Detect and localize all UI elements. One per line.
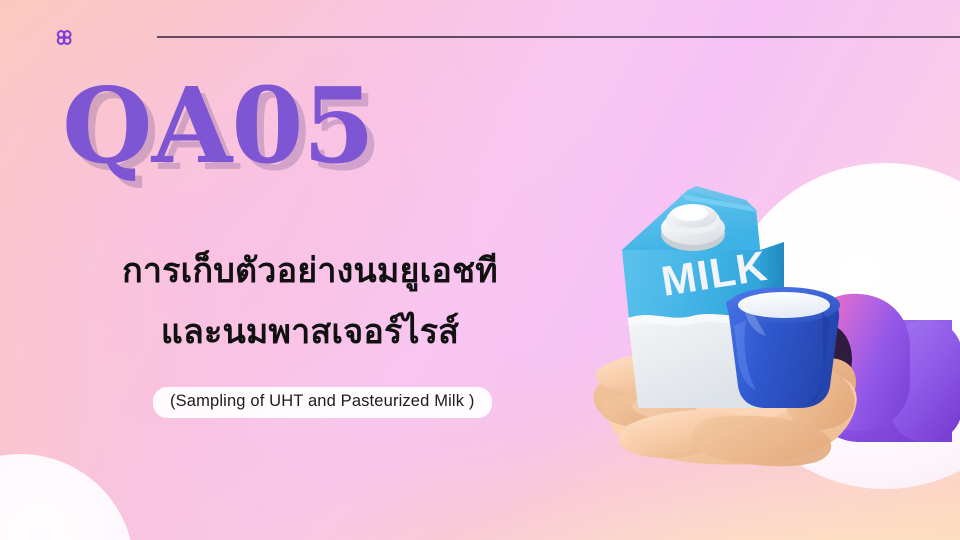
clover-flower-icon	[52, 26, 76, 50]
slide-canvas: QA05 การเก็บตัวอย่างนมยูเอชที และนมพาสเจ…	[0, 0, 960, 540]
thai-subtitle-line-2: และนมพาสเจอร์ไรส์	[0, 304, 620, 358]
top-divider-line	[157, 36, 960, 38]
thai-subtitle-line-1: การเก็บตัวอย่างนมยูเอชที	[0, 243, 620, 297]
page-title: QA05	[62, 74, 374, 178]
glass-of-milk	[726, 287, 840, 408]
english-subtitle: (Sampling of UHT and Pasteurized Milk )	[153, 387, 492, 418]
hand-holding-milk-carton-illustration: MILK	[560, 150, 960, 540]
